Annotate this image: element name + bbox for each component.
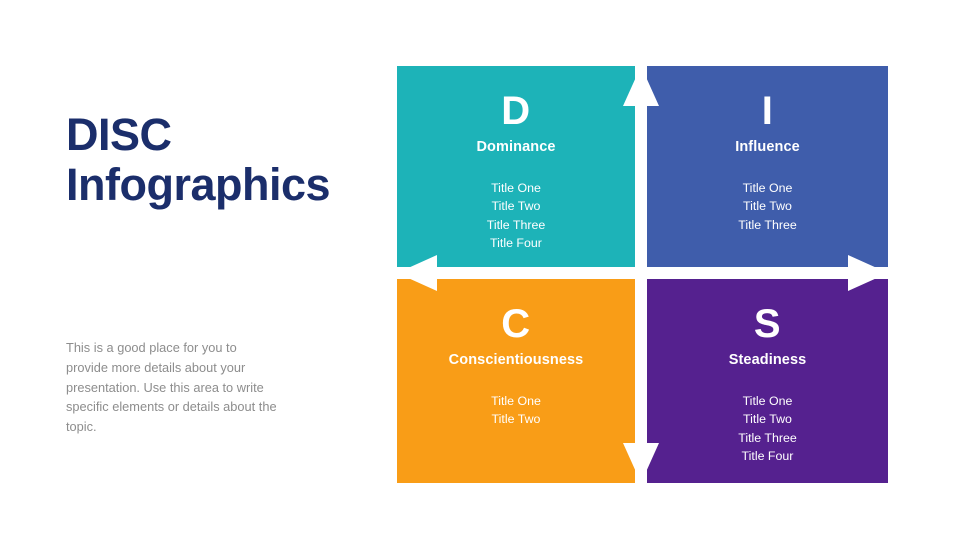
list-item: Title One	[491, 392, 541, 411]
page-title: DISC Infographics	[66, 110, 366, 211]
quadrant-influence[interactable]: I Influence Title One Title Two Title Th…	[647, 66, 888, 267]
list-item: Title One	[487, 179, 546, 198]
list-item: Title Two	[487, 197, 546, 216]
disc-matrix: D Dominance Title One Title Two Title Th…	[397, 66, 888, 483]
description-text: This is a good place for you to provide …	[66, 338, 278, 437]
list-item: Title Three	[738, 429, 797, 448]
quadrant-letter-d: D	[501, 91, 530, 131]
list-item: Title Two	[738, 197, 797, 216]
quadrant-name-dominance: Dominance	[476, 140, 555, 155]
quadrant-items-conscientiousness: Title One Title Two	[491, 392, 541, 429]
quadrant-dominance[interactable]: D Dominance Title One Title Two Title Th…	[397, 66, 635, 267]
axis-vertical-shaft	[635, 66, 647, 483]
quadrant-name-influence: Influence	[735, 140, 800, 155]
quadrant-items-influence: Title One Title Two Title Three	[738, 179, 797, 235]
quadrant-letter-s: S	[754, 304, 781, 344]
quadrant-steadiness[interactable]: S Steadiness Title One Title Two Title T…	[647, 279, 888, 483]
list-item: Title One	[738, 179, 797, 198]
list-item: Title Three	[487, 216, 546, 235]
disc-infographic-slide: DISC Infographics This is a good place f…	[0, 0, 980, 551]
list-item: Title Four	[738, 447, 797, 466]
quadrant-conscientiousness[interactable]: C Conscientiousness Title One Title Two	[397, 279, 635, 483]
title-block: DISC Infographics	[66, 110, 366, 211]
quadrant-name-steadiness: Steadiness	[729, 353, 807, 368]
list-item: Title One	[738, 392, 797, 411]
quadrant-letter-c: C	[501, 304, 530, 344]
axis-horizontal-shaft	[397, 267, 888, 279]
quadrant-letter-i: I	[762, 91, 774, 131]
list-item: Title Two	[491, 410, 541, 429]
quadrant-items-dominance: Title One Title Two Title Three Title Fo…	[487, 179, 546, 253]
list-item: Title Four	[487, 234, 546, 253]
quadrant-items-steadiness: Title One Title Two Title Three Title Fo…	[738, 392, 797, 466]
list-item: Title Three	[738, 216, 797, 235]
quadrant-name-conscientiousness: Conscientiousness	[449, 353, 584, 368]
list-item: Title Two	[738, 410, 797, 429]
